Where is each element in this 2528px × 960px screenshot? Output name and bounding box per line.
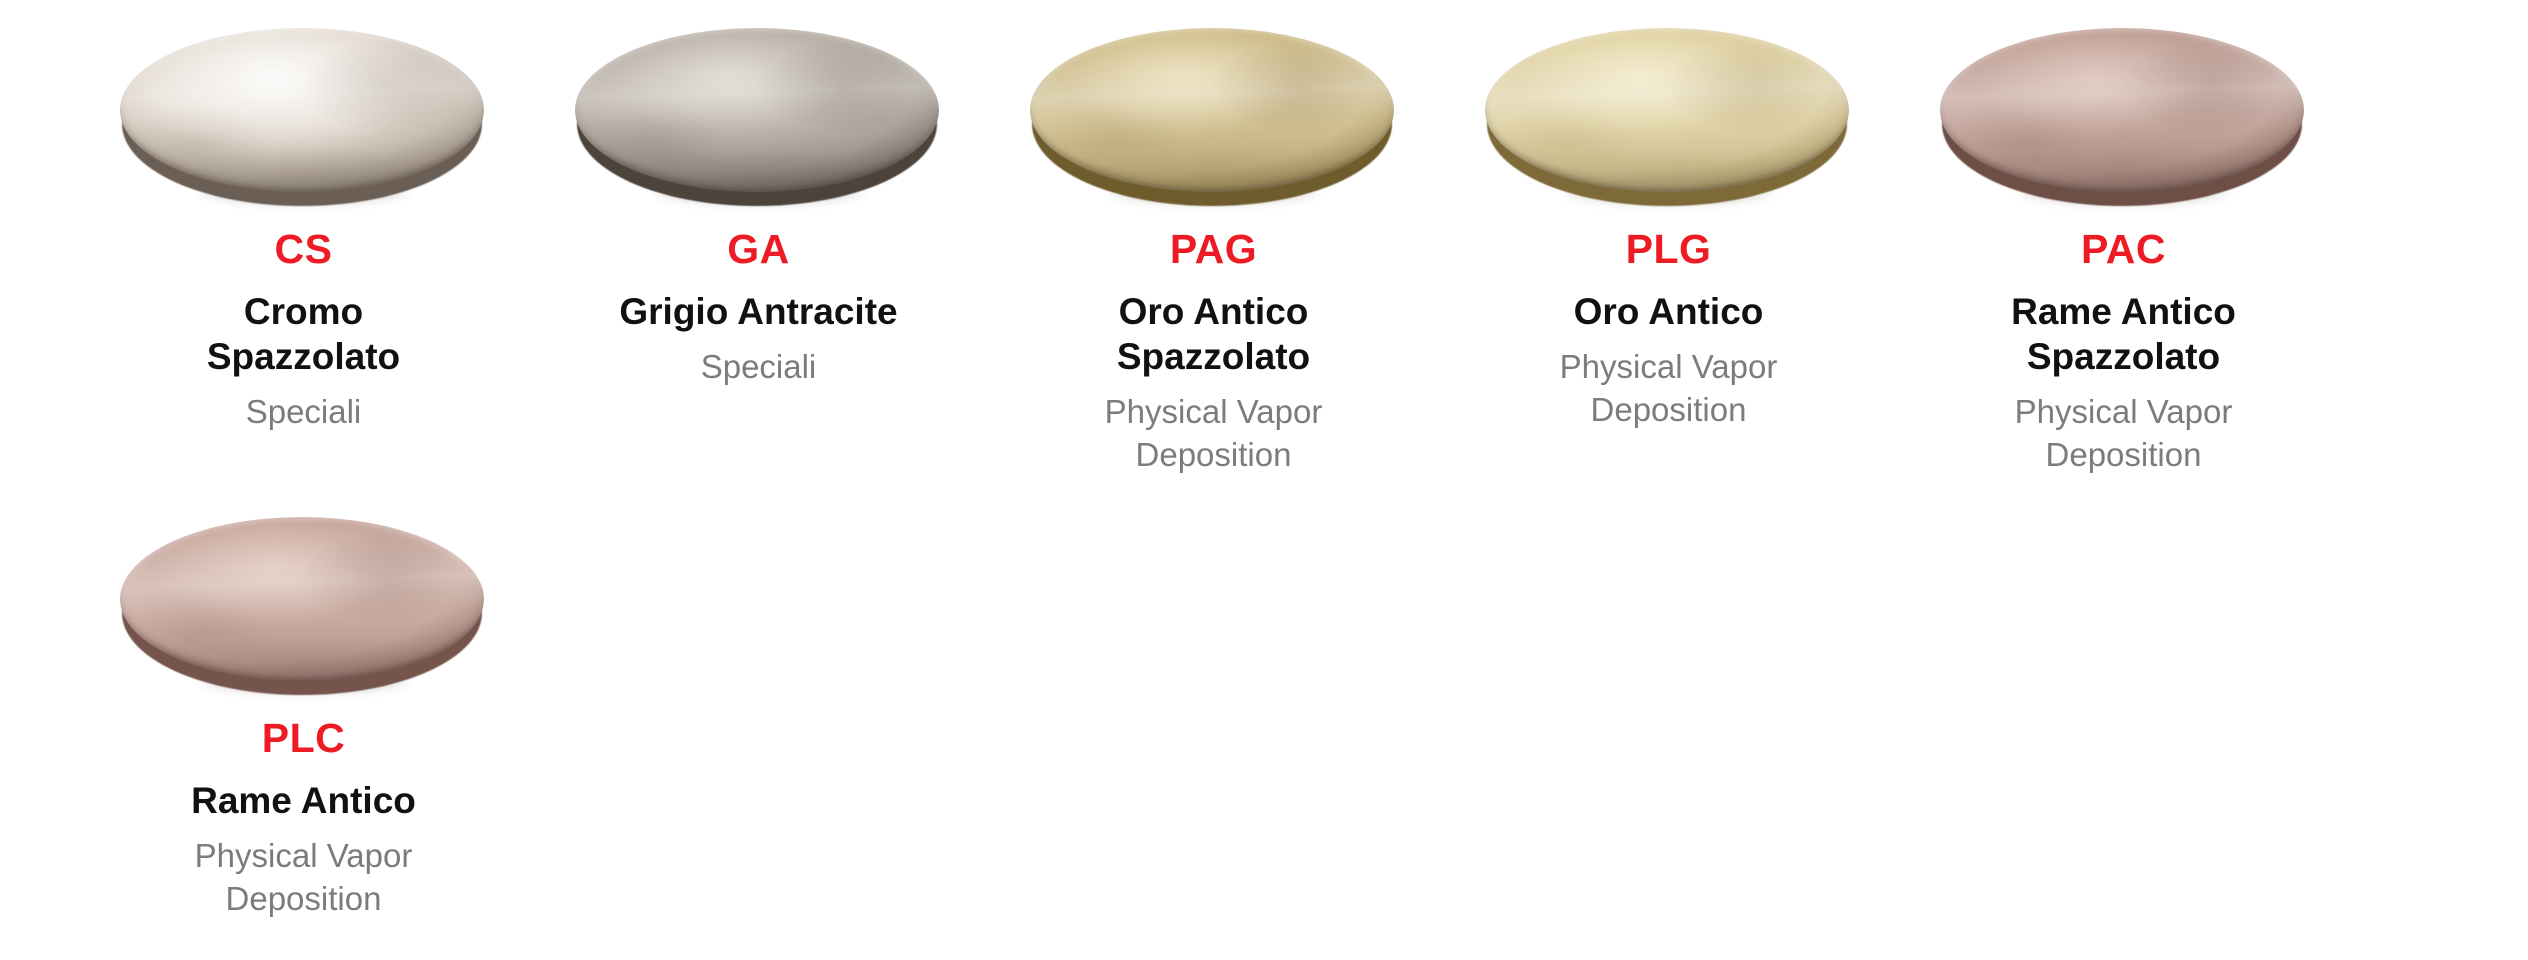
swatch-oro-antico-spazzolato[interactable]: [1030, 16, 1398, 216]
swatch-edge: [1940, 28, 2304, 192]
finish-grid: CS Cromo Spazzolato Speciali GA Grigio A…: [76, 16, 2476, 949]
finish-name: Rame Antico Spazzolato: [2011, 289, 2236, 379]
finish-name: Rame Antico: [191, 778, 416, 823]
finish-name: Oro Antico Spazzolato: [1117, 289, 1310, 379]
swatch-disc: [1485, 28, 1849, 192]
finish-code: PAG: [1170, 228, 1257, 271]
finish-code: PLC: [262, 717, 346, 760]
finish-technology: Physical Vapor Deposition: [2015, 391, 2233, 477]
finish-card-pag[interactable]: PAG Oro Antico Spazzolato Physical Vapor…: [986, 16, 1441, 505]
finishes-board: CS Cromo Spazzolato Speciali GA Grigio A…: [0, 0, 2528, 960]
swatch-disc: [1030, 28, 1394, 192]
swatch-edge: [1030, 28, 1394, 192]
swatch-disc: [575, 28, 939, 192]
finish-code: GA: [727, 228, 790, 271]
finish-code: PLG: [1626, 228, 1712, 271]
finish-card-pac[interactable]: PAC Rame Antico Spazzolato Physical Vapo…: [1896, 16, 2351, 505]
swatch-edge: [1485, 28, 1849, 192]
swatch-oro-antico[interactable]: [1485, 16, 1853, 216]
swatch-cromo-spazzolato[interactable]: [120, 16, 488, 216]
swatch-edge: [575, 28, 939, 192]
swatch-grigio-antracite[interactable]: [575, 16, 943, 216]
swatch-disc: [120, 28, 484, 192]
swatch-disc: [1940, 28, 2304, 192]
finish-card-plc[interactable]: PLC Rame Antico Physical Vapor Depositio…: [76, 505, 531, 949]
finish-name: Grigio Antracite: [619, 289, 897, 334]
finish-code: PAC: [2081, 228, 2166, 271]
finish-card-cs[interactable]: CS Cromo Spazzolato Speciali: [76, 16, 531, 505]
finish-name: Oro Antico: [1574, 289, 1764, 334]
finish-technology: Physical Vapor Deposition: [1560, 346, 1778, 432]
swatch-edge: [120, 517, 484, 681]
finish-name: Cromo Spazzolato: [207, 289, 400, 379]
finish-technology: Speciali: [701, 346, 817, 389]
swatch-edge: [120, 28, 484, 192]
finish-card-ga[interactable]: GA Grigio Antracite Speciali: [531, 16, 986, 505]
finish-technology: Speciali: [246, 391, 362, 434]
finish-technology: Physical Vapor Deposition: [195, 835, 413, 921]
finish-technology: Physical Vapor Deposition: [1105, 391, 1323, 477]
finish-code: CS: [275, 228, 333, 271]
finish-card-plg[interactable]: PLG Oro Antico Physical Vapor Deposition: [1441, 16, 1896, 505]
swatch-rame-antico[interactable]: [120, 505, 488, 705]
swatch-disc: [120, 517, 484, 681]
swatch-rame-antico-spazzolato[interactable]: [1940, 16, 2308, 216]
